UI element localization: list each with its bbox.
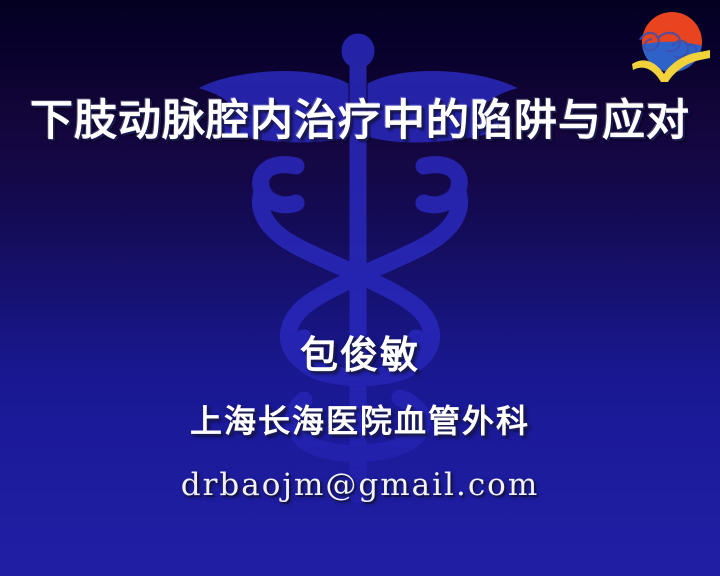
presenter-name: 包俊敏: [0, 336, 720, 374]
presentation-slide: 下肢动脉腔内治疗中的陷阱与应对 包俊敏 上海长海医院血管外科 drbaojm@g…: [0, 0, 720, 576]
presenter-email: drbaojm@gmail.com: [0, 470, 720, 501]
slide-title: 下肢动脉腔内治疗中的陷阱与应对: [0, 100, 720, 143]
presenter-affiliation: 上海长海医院血管外科: [0, 405, 720, 437]
conference-logo: [628, 6, 714, 86]
